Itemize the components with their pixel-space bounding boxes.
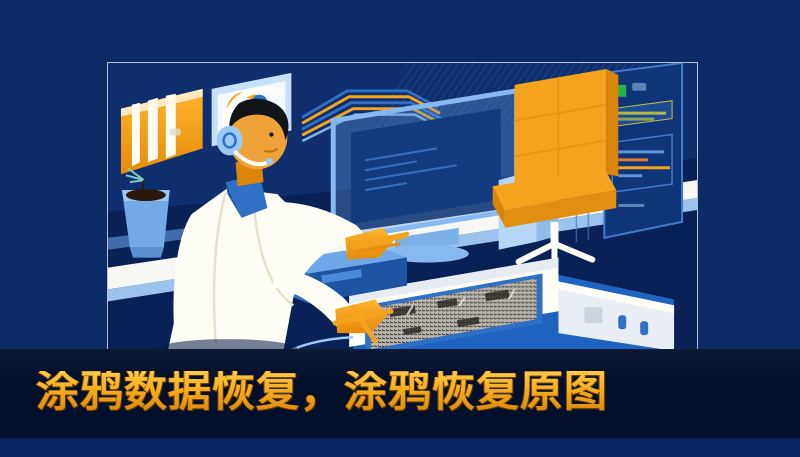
caption-title: 涂鸦数据恢复，涂鸦恢复原图: [36, 371, 608, 414]
eye: [269, 132, 273, 136]
bottom-strip: [0, 438, 800, 457]
illustration-frame: [107, 62, 698, 352]
illustration-canvas: [108, 63, 697, 351]
server-indicator: [618, 315, 626, 329]
screenshot-root: 涂鸦数据恢复，涂鸦恢复原图: [0, 0, 800, 457]
server-port: [584, 307, 602, 323]
chair-post: [550, 222, 558, 244]
microphone: [266, 158, 273, 165]
